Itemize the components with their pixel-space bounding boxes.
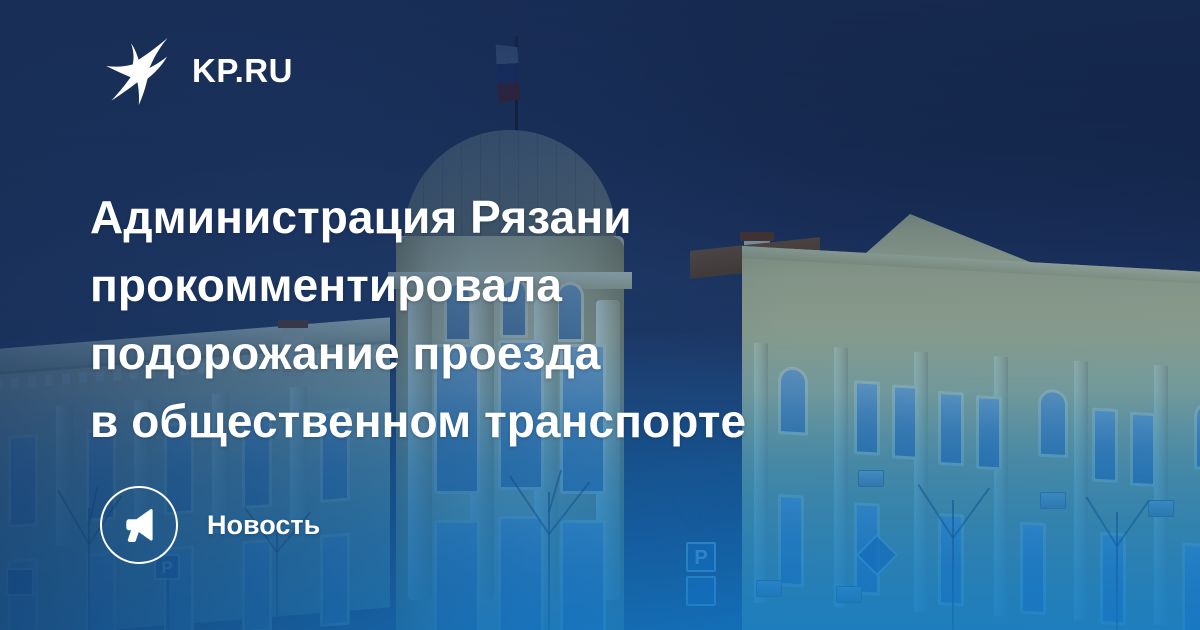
page-title: Администрация Рязани прокомментировала п… (90, 183, 970, 455)
swallow-bird-icon (104, 34, 170, 106)
megaphone-icon (118, 504, 160, 546)
megaphone-icon-circle (100, 486, 178, 564)
news-share-card: P P KP.RU Администрация Рязани прокоммен… (0, 0, 1200, 630)
card-content: KP.RU Администрация Рязани прокомментиро… (0, 0, 1200, 630)
status-badge: Новость (100, 486, 320, 564)
brand-logo[interactable]: KP.RU (104, 34, 293, 106)
badge-label: Новость (207, 512, 320, 539)
brand-name: KP.RU (192, 54, 293, 87)
